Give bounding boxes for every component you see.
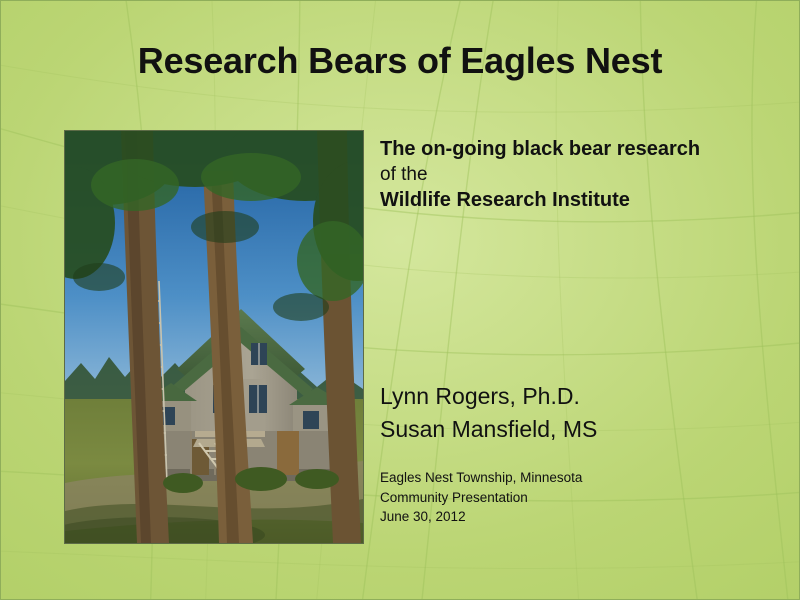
footer-block: Eagles Nest Township, Minnesota Communit… (380, 468, 780, 527)
author-primary: Lynn Rogers, Ph.D. (380, 380, 780, 413)
page-title: Research Bears of Eagles Nest (0, 40, 800, 82)
subtitle-block: The on-going black bear research of the … (380, 136, 780, 214)
subtitle-line-1: The on-going black bear research (380, 136, 780, 162)
subtitle-line-2: of the (380, 162, 780, 187)
footer-event: Community Presentation (380, 488, 780, 508)
authors-block: Lynn Rogers, Ph.D. Susan Mansfield, MS (380, 380, 780, 445)
research-cabin-photo (64, 130, 364, 544)
cabin-photo-illustration (65, 131, 363, 543)
presentation-slide: Research Bears of Eagles Nest (0, 0, 800, 600)
subtitle-line-3: Wildlife Research Institute (380, 187, 780, 213)
footer-date: June 30, 2012 (380, 507, 780, 527)
footer-location: Eagles Nest Township, Minnesota (380, 468, 780, 488)
author-secondary: Susan Mansfield, MS (380, 413, 780, 446)
